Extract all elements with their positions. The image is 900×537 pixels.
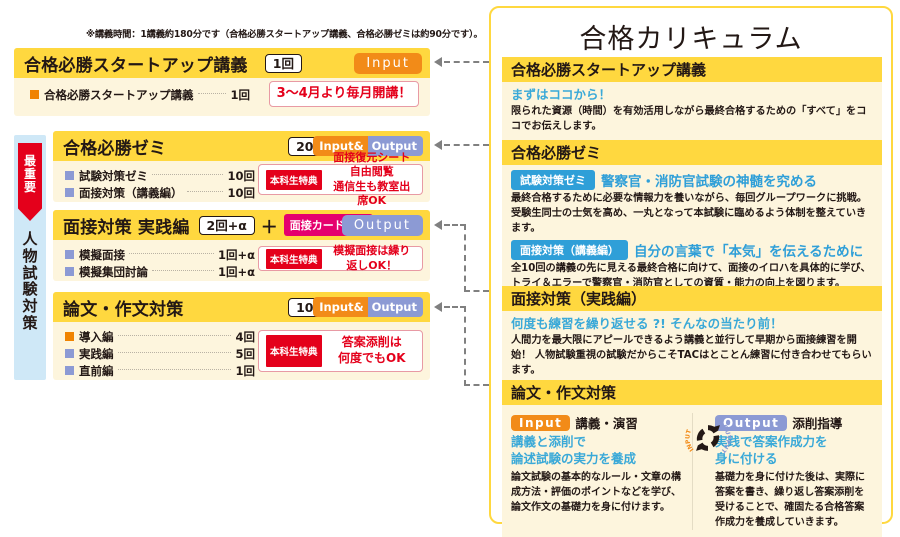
leader-dots [118, 369, 232, 370]
course-card-header: 論文・作文対策 10回 Input& Output [53, 292, 430, 322]
callout-line-2: 通信生も教室出席OK [333, 180, 410, 207]
section-header: 合格必勝スタートアップ講義 [502, 57, 882, 82]
list-item: 直前編 1回 [65, 362, 255, 379]
badge-char-1: 最 [18, 155, 42, 168]
most-important-badge: 最 重 要 [18, 143, 42, 221]
bullet-square-icon [65, 332, 74, 341]
connector-arrow-4 [434, 302, 442, 312]
io-chip-input-output: Input& Output [313, 297, 423, 317]
connector-line-4b [464, 306, 466, 386]
io-desc: 論文試験の基本的なルール・文章の構成方法・評価のポイントなどを学び、論文作文の基… [511, 470, 684, 515]
course-title: 合格必勝スタートアップ講義 [24, 51, 248, 76]
course-title: 面接対策 実践編 [63, 213, 190, 238]
connector-line-3b [464, 224, 466, 292]
callout-box: 本科生特典 面接復元シート自由閲覧 通信生も教室出席OK [258, 164, 423, 195]
bullet-square-icon [65, 366, 74, 375]
bullet-square-icon [65, 171, 74, 180]
badge-char-2: 重 [18, 168, 42, 181]
course-card-header: 合格必勝スタートアップ講義 1回 Input [14, 48, 430, 78]
input-output-cycle-icon: INPUT OUTPUT [685, 415, 731, 461]
section-body: まずはココから！ 限られた資源（時間）を有効活用しながら最終合格するための「すべ… [502, 82, 882, 142]
io-column-head: Input 講義・演習 [511, 413, 684, 432]
row-label: 面接対策（講義編） [79, 185, 183, 201]
callout-text: 面接復元シート自由閲覧 通信生も教室出席OK [329, 151, 415, 208]
course-title: 論文・作文対策 [63, 295, 183, 320]
bullet-square-icon [30, 90, 39, 99]
row-label: 合格必勝スタートアップ講義 [44, 87, 194, 103]
block-headline-row: 試験対策ゼミ 警察官・消防官試験の神髄を究める [511, 170, 873, 190]
section-desc: 人間力を最大限にアピールできるよう講義と並行して早期から面接練習を開始！ 人物試… [511, 334, 873, 378]
connector-line-2 [444, 144, 489, 146]
callout-text: 3〜4月より毎月開講！ [270, 86, 418, 102]
row-count: 1回+α [218, 247, 255, 263]
course-card-startup: 合格必勝スタートアップ講義 1回 Input 合格必勝スタートアップ講義 1回 … [14, 48, 430, 116]
course-card-seminar: 合格必勝ゼミ 20回 Input& Output 試験対策ゼミ 10回 面接対策… [53, 131, 430, 202]
connector-line-4c [464, 384, 489, 386]
row-label: 模擬面接 [79, 247, 125, 263]
callout-box: 3〜4月より毎月開講！ [269, 81, 419, 107]
io-head-text: 添削指導 [792, 413, 842, 432]
connector-arrow-2 [434, 140, 442, 150]
callout-box: 本科生特典 答案添削は 何度でもOK [258, 330, 423, 372]
list-item: 試験対策ゼミ 10回 [65, 167, 255, 184]
benefit-tag: 本科生特典 [266, 335, 322, 367]
course-row-list: 試験対策ゼミ 10回 面接対策（講義編） 10回 [65, 167, 255, 201]
plus-sign: ＋ [261, 213, 278, 238]
bullet-square-icon [65, 349, 74, 358]
curriculum-diagram: ※講義時間：1講義約180分です（合格必勝スタートアップ講義、合格必勝ゼミは約9… [0, 0, 900, 531]
leader-dots [118, 352, 232, 353]
bullet-square-icon [65, 250, 74, 259]
banner-char-1: 人 [19, 231, 41, 248]
leader-dots [198, 93, 227, 94]
bullet-square-icon [65, 267, 74, 276]
leader-dots [152, 270, 214, 271]
benefit-tag: 本科生特典 [266, 249, 322, 269]
course-count-badge: 1回 [265, 54, 302, 73]
cycle-label-output: OUTPUT [719, 423, 731, 455]
block-chip: 試験対策ゼミ [511, 170, 595, 190]
row-count: 1回 [235, 363, 255, 379]
connector-line-4a [444, 306, 466, 308]
panel-section-interview: 面接対策（実践編） 何度も練習を繰り返せる ?! そんなの当たり前！ 人間力を最… [502, 286, 882, 386]
block-chip: 面接対策（講義編） [511, 240, 628, 260]
row-count: 5回 [235, 346, 255, 362]
course-card-essay: 論文・作文対策 10回 Input& Output 導入編 4回 実践編 5回 [53, 292, 430, 380]
callout-text: 模擬面接は繰り返しOK！ [329, 244, 415, 273]
row-count: 1回 [230, 87, 250, 103]
svg-text:OUTPUT: OUTPUT [719, 423, 731, 455]
badge-char-3: 要 [18, 181, 42, 194]
block-headline: 警察官・消防官試験の神髄を究める [601, 170, 817, 190]
io-desc: 基礎力を身に付けた後は、実際に答案を書き、繰り返し答案添削を受けることで、確固た… [715, 470, 873, 530]
section-desc: 限られた資源（時間）を有効活用しながら最終合格するための「すべて」をココでお伝え… [511, 105, 873, 135]
io-chip-input-part: Input& [313, 297, 367, 317]
bullet-square-icon [65, 188, 74, 197]
banner-char-6: 策 [19, 315, 41, 332]
list-item: 導入編 4回 [65, 328, 255, 345]
connector-line-1 [444, 61, 489, 63]
row-label: 実践編 [79, 346, 114, 362]
course-title: 合格必勝ゼミ [63, 134, 166, 159]
block-headline: 自分の言葉で「本気」を伝えるために [634, 240, 863, 260]
io-lead: 実践で答案作成力を 身に付ける [715, 434, 873, 467]
row-label: 導入編 [79, 329, 114, 345]
list-item: 面接対策（講義編） 10回 [65, 184, 255, 201]
callout-box: 本科生特典 模擬面接は繰り返しOK！ [258, 246, 423, 271]
connector-arrow-1 [434, 57, 442, 67]
leader-dots [152, 174, 223, 175]
callout-line-1: 答案添削は [342, 335, 402, 349]
banner-char-3: 試 [19, 265, 41, 282]
banner-vertical-label: 人 物 試 験 対 策 [19, 231, 41, 332]
section-body: 何度も練習を繰り返せる ?! そんなの当たり前！ 人間力を最大限にアピールできる… [502, 311, 882, 386]
io-chip-output-part: Output [368, 297, 423, 317]
callout-line-1: 面接復元シート自由閲覧 [333, 151, 410, 178]
course-row-list: 導入編 4回 実践編 5回 直前編 1回 [65, 328, 255, 379]
row-count: 1回+α [218, 264, 255, 280]
list-item: 実践編 5回 [65, 345, 255, 362]
io-chip-input: Input [354, 53, 422, 74]
section-header: 論文・作文対策 [502, 380, 882, 405]
callout-text: 答案添削は 何度でもOK [329, 335, 415, 366]
row-count: 4回 [235, 329, 255, 345]
io-column-head: Output 添削指導 [715, 413, 873, 432]
io-head-text: 講義・演習 [575, 413, 638, 432]
leader-dots [129, 253, 214, 254]
list-item: 模擬面接 1回+α [65, 246, 255, 263]
section-header: 合格必勝ゼミ [502, 140, 882, 165]
row-count: 10回 [227, 185, 255, 201]
callout-line-2: 何度でもOK [338, 351, 406, 365]
connector-arrow-3 [434, 220, 442, 230]
banner-char-4: 験 [19, 281, 41, 298]
io-chip-output: Output [342, 215, 423, 236]
leader-dots [187, 191, 224, 192]
connector-line-3c [464, 290, 489, 292]
page-title: 合格カリキュラム [491, 17, 891, 56]
lecture-time-note: ※講義時間：1講義約180分です（合格必勝スタートアップ講義、合格必勝ゼミは約9… [86, 26, 446, 40]
row-label: 試験対策ゼミ [79, 168, 148, 184]
banner-char-2: 物 [19, 248, 41, 265]
section-body: 試験対策ゼミ 警察官・消防官試験の神髄を究める 最終合格するために必要な情報力を… [502, 165, 882, 299]
io-lead: 講義と添削で 論述試験の実力を養成 [511, 434, 684, 467]
panel-section-seminar: 合格必勝ゼミ 試験対策ゼミ 警察官・消防官試験の神髄を究める 最終合格するために… [502, 140, 882, 299]
course-row-list: 合格必勝スタートアップ講義 1回 [30, 86, 250, 103]
panel-section-essay: 論文・作文対策 Input 講義・演習 講義と添削で 論述試験の実力を養成 論文… [502, 380, 882, 537]
section-block-1: 試験対策ゼミ 警察官・消防官試験の神髄を究める 最終合格するために必要な情報力を… [511, 170, 873, 236]
banner-char-5: 対 [19, 298, 41, 315]
course-card-header: 面接対策 実践編 2回+α ＋ 面接カード添削 Output [53, 210, 430, 240]
connector-line-3a [444, 224, 466, 226]
list-item: 模擬集団討論 1回+α [65, 263, 255, 280]
leader-dots [118, 335, 232, 336]
most-important-banner: 最 重 要 人 物 試 験 対 策 [14, 135, 46, 380]
io-tag-input: Input [511, 415, 570, 431]
cycle-label-input: INPUT [685, 428, 695, 453]
list-item: 合格必勝スタートアップ講義 1回 [30, 86, 250, 103]
block-headline-row: 面接対策（講義編） 自分の言葉で「本気」を伝えるために [511, 240, 873, 260]
row-label: 直前編 [79, 363, 114, 379]
benefit-tag: 本科生特典 [266, 170, 322, 190]
section-lead: まずはココから！ [511, 87, 873, 103]
course-card-interview: 面接対策 実践編 2回+α ＋ 面接カード添削 Output 模擬面接 1回+α… [53, 210, 430, 281]
course-row-list: 模擬面接 1回+α 模擬集団討論 1回+α [65, 246, 255, 280]
svg-text:INPUT: INPUT [685, 428, 695, 453]
panel-section-startup: 合格必勝スタートアップ講義 まずはココから！ 限られた資源（時間）を有効活用しな… [502, 57, 882, 142]
section-lead: 何度も練習を繰り返せる ?! そんなの当たり前！ [511, 316, 873, 332]
row-label: 模擬集団討論 [79, 264, 148, 280]
section-body: Input 講義・演習 講義と添削で 論述試験の実力を養成 論文試験の基本的なル… [502, 405, 882, 537]
io-column-input: Input 講義・演習 講義と添削で 論述試験の実力を養成 論文試験の基本的なル… [511, 413, 692, 530]
course-count-badge: 2回+α [199, 216, 255, 235]
section-header: 面接対策（実践編） [502, 286, 882, 311]
row-count: 10回 [227, 168, 255, 184]
section-block-2: 面接対策（講義編） 自分の言葉で「本気」を伝えるために 全10回の講義の先に見え… [511, 240, 873, 292]
curriculum-panel: 合格カリキュラム 合格必勝スタートアップ講義 まずはココから！ 限られた資源（時… [489, 6, 893, 524]
io-columns: Input 講義・演習 講義と添削で 論述試験の実力を養成 論文試験の基本的なル… [511, 413, 873, 530]
block-desc: 最終合格するために必要な情報力を養いながら、毎回グループワークに挑戦。受験生同士… [511, 192, 873, 236]
